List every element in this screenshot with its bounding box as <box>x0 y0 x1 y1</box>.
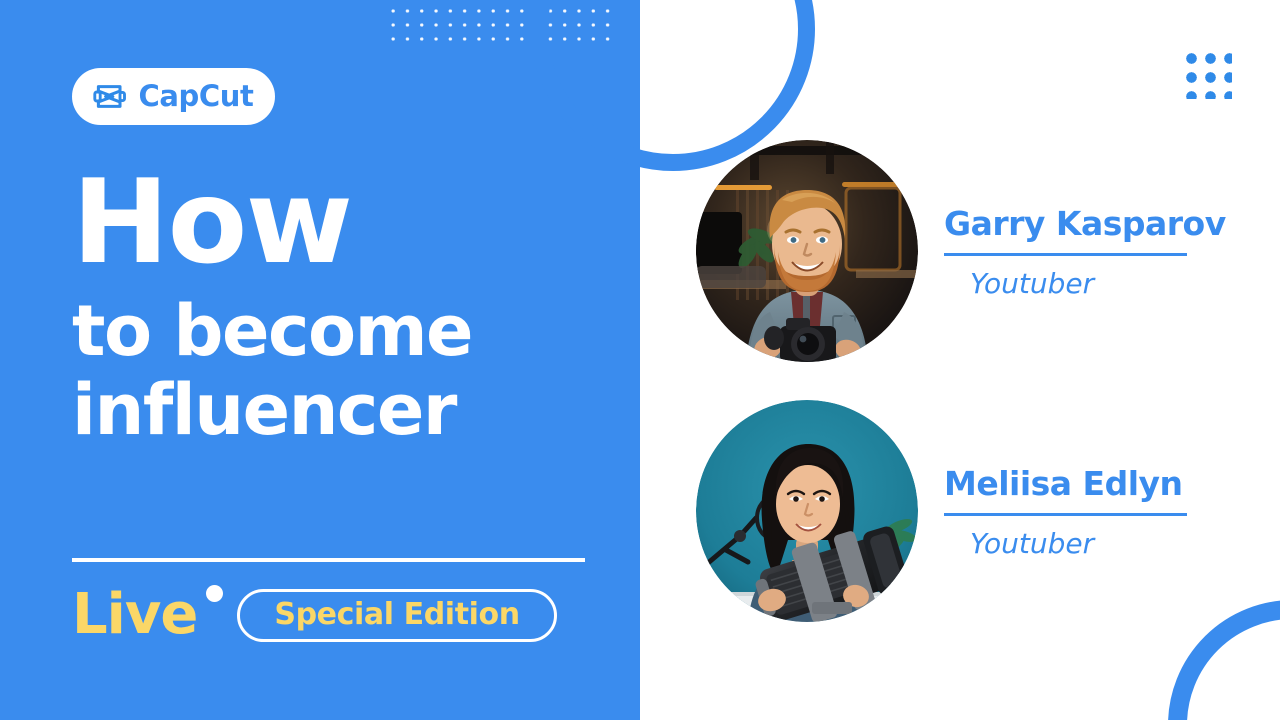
speaker-meta: Meliisa Edlyn Youtuber <box>944 462 1187 560</box>
capcut-logo[interactable]: CapCut <box>72 68 275 125</box>
avatar <box>696 140 918 362</box>
live-dot-icon <box>206 585 223 602</box>
speaker-name-underline <box>944 513 1187 516</box>
speaker-1-photo-icon <box>696 140 918 362</box>
hero-headline: How to become influencer <box>72 168 612 449</box>
headline-line-1: How <box>72 168 612 278</box>
speaker-name: Garry Kasparov <box>944 206 1226 242</box>
speaker-card-2[interactable]: Meliisa Edlyn Youtuber <box>696 400 1187 622</box>
hero-divider <box>72 558 585 562</box>
speaker-name-underline <box>944 253 1187 256</box>
left-blue-panel: CapCut How to become influencer Live Spe… <box>0 0 640 720</box>
headline-line-3: influencer <box>72 371 612 449</box>
poster-canvas: CapCut How to become influencer Live Spe… <box>0 0 1280 720</box>
live-label-text: Live <box>72 582 197 647</box>
speaker-card-1[interactable]: Garry Kasparov Youtuber <box>696 140 1226 362</box>
speaker-meta: Garry Kasparov Youtuber <box>944 202 1226 300</box>
capcut-logo-text: CapCut <box>138 82 253 111</box>
capcut-hourglass-icon <box>93 83 129 110</box>
speaker-role: Youtuber <box>944 269 1226 300</box>
dot-grid-blue-icon <box>1186 53 1232 99</box>
speaker-name: Meliisa Edlyn <box>944 466 1187 502</box>
speaker-2-photo-icon <box>696 400 918 622</box>
live-row: Live Special Edition <box>72 584 557 646</box>
special-edition-label: Special Edition <box>274 600 519 630</box>
special-edition-badge[interactable]: Special Edition <box>237 589 556 642</box>
live-label: Live <box>72 587 227 643</box>
avatar <box>696 400 918 622</box>
headline-line-2: to become <box>72 292 612 370</box>
speaker-role: Youtuber <box>944 529 1187 560</box>
